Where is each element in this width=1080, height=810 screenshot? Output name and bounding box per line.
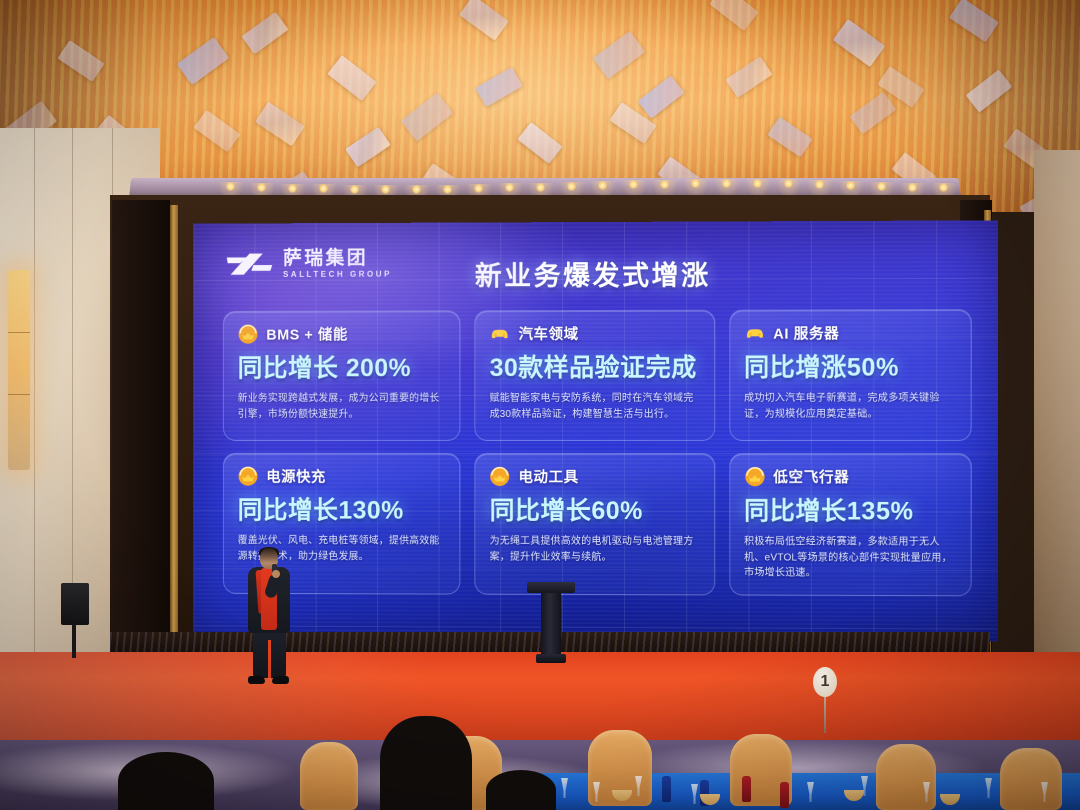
card-header: 低空飞行器 bbox=[744, 466, 956, 487]
ceiling-spotlight bbox=[815, 180, 824, 189]
car-icon bbox=[744, 323, 765, 344]
guest-seated-left bbox=[118, 752, 214, 810]
beverage-bottle-red bbox=[742, 776, 751, 802]
ceiling-spotlight bbox=[660, 180, 669, 189]
card-metric: 同比增涨50% bbox=[744, 347, 956, 383]
ceiling-spotlight bbox=[567, 182, 576, 191]
card-metric: 同比增长130% bbox=[238, 491, 446, 527]
card-description: 新业务实现跨越式发展，成为公司重要的增长引擎，市场份额快速提升。 bbox=[238, 391, 446, 422]
ceiling-spotlight bbox=[691, 179, 700, 188]
crown-icon bbox=[238, 324, 259, 345]
banquet-stage-photo: 萨瑞集团 SALLTECH GROUP 新业务爆发式增涨 BMS + 储能同比增… bbox=[0, 0, 1080, 810]
ceiling-spotlight bbox=[381, 185, 390, 194]
beverage-bottle-blue bbox=[662, 776, 671, 802]
ceiling-spotlight bbox=[753, 179, 762, 188]
card-metric: 同比增长 200% bbox=[238, 348, 446, 384]
card-metric: 30款样品验证完成 bbox=[490, 348, 700, 384]
metric-card: BMS + 储能同比增长 200%新业务实现跨越式发展，成为公司重要的增长引擎，… bbox=[223, 310, 461, 441]
monitor-stand bbox=[72, 624, 76, 658]
card-header: 汽车领域 bbox=[490, 323, 700, 344]
ceiling-spotlight bbox=[784, 179, 793, 188]
card-header: 电动工具 bbox=[490, 466, 700, 487]
table-sign-stand bbox=[824, 695, 826, 733]
slide-title: 新业务爆发式增涨 bbox=[193, 253, 998, 295]
ceiling-spotlight bbox=[226, 182, 235, 191]
ceiling-spotlight bbox=[877, 182, 886, 191]
car-icon bbox=[490, 323, 511, 344]
card-description: 积极布局低空经济新赛道，多款适用于无人机、eVTOL等场景的核心部件实现批量应用… bbox=[744, 534, 956, 581]
table-number-value: 1 bbox=[813, 667, 837, 697]
guest-seated-center bbox=[380, 716, 472, 810]
card-metric: 同比增长135% bbox=[744, 491, 956, 528]
metric-card: AI 服务器同比增涨50%成功切入汽车电子新赛道，完成多项关键验证，为规模化应用… bbox=[729, 309, 972, 441]
metric-card: 低空飞行器同比增长135%积极布局低空经济新赛道，多款适用于无人机、eVTOL等… bbox=[729, 453, 972, 596]
banquet-chair bbox=[1000, 748, 1062, 810]
card-label: AI 服务器 bbox=[773, 322, 839, 343]
ceiling-spotlight bbox=[350, 185, 359, 194]
metric-card: 汽车领域30款样品验证完成赋能智能家电与安防系统，同时在汽车领域完成30款样品验… bbox=[475, 310, 715, 441]
ceiling-spotlight bbox=[412, 185, 421, 194]
crown-icon bbox=[238, 466, 259, 487]
card-label: 低空飞行器 bbox=[773, 466, 849, 487]
gold-trim-left bbox=[170, 205, 178, 667]
metric-card-grid: BMS + 储能同比增长 200%新业务实现跨越式发展，成为公司重要的增长引擎，… bbox=[223, 309, 972, 596]
card-description: 赋能智能家电与安防系统，同时在汽车领域完成30款样品验证，构建智慧生活与出行。 bbox=[490, 391, 700, 422]
card-label: 电源快充 bbox=[266, 466, 326, 487]
card-description: 成功切入汽车电子新赛道，完成多项关键验证，为规模化应用奠定基础。 bbox=[744, 391, 956, 422]
ceiling-spotlight bbox=[536, 183, 545, 192]
ceiling-spotlight bbox=[288, 184, 297, 193]
table-number-sign: 1 bbox=[813, 667, 837, 697]
ceiling-spotlight bbox=[505, 183, 514, 192]
card-description: 为无绳工具提供高效的电机驱动与电池管理方案，提升作业效率与续航。 bbox=[490, 534, 700, 565]
card-header: BMS + 储能 bbox=[238, 323, 446, 344]
ceiling-spotlight bbox=[443, 185, 452, 194]
ceiling-spotlight bbox=[598, 181, 607, 190]
ceiling-spotlight bbox=[908, 183, 917, 192]
ceiling-spotlight bbox=[939, 183, 948, 192]
card-header: 电源快充 bbox=[238, 466, 446, 487]
wall-sconce-light bbox=[8, 270, 30, 470]
card-header: AI 服务器 bbox=[744, 322, 956, 344]
presenter-person bbox=[236, 548, 302, 688]
metric-card: 电动工具同比增长60%为无绳工具提供高效的电机驱动与电池管理方案，提升作业效率与… bbox=[475, 453, 715, 595]
stage-left-wing bbox=[112, 200, 170, 670]
ceiling-spotlight bbox=[722, 179, 731, 188]
guest-head-foreground bbox=[486, 770, 556, 810]
ceiling-spotlight bbox=[474, 184, 483, 193]
card-label: 汽车领域 bbox=[518, 323, 578, 344]
crown-icon bbox=[490, 466, 511, 487]
ceiling-spotlight bbox=[319, 184, 328, 193]
stage-monitor-speaker bbox=[61, 583, 89, 625]
banquet-chair bbox=[300, 742, 358, 810]
crown-icon bbox=[744, 466, 765, 487]
ceiling-spotlight bbox=[257, 183, 266, 192]
card-metric: 同比增长60% bbox=[490, 491, 700, 527]
card-label: BMS + 储能 bbox=[266, 324, 348, 345]
right-wall bbox=[1034, 150, 1080, 670]
ceiling-spotlight bbox=[629, 180, 638, 189]
card-label: 电动工具 bbox=[518, 466, 578, 487]
lectern-podium bbox=[527, 582, 575, 666]
ceiling-spotlight bbox=[846, 181, 855, 190]
led-presentation-screen: 萨瑞集团 SALLTECH GROUP 新业务爆发式增涨 BMS + 储能同比增… bbox=[193, 220, 998, 641]
beverage-bottle-red bbox=[780, 782, 789, 808]
